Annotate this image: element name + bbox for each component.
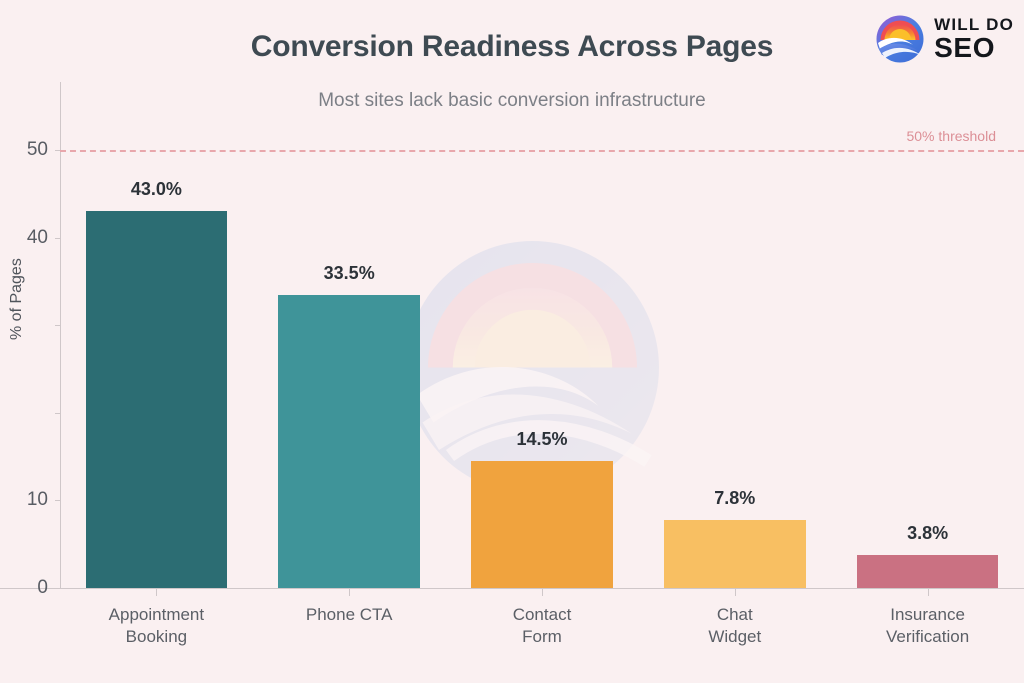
y-tick-mark	[55, 413, 61, 414]
threshold-line	[60, 150, 1024, 152]
bar[interactable]	[857, 555, 999, 588]
x-tick-mark	[928, 589, 929, 596]
chart-title: Conversion Readiness Across Pages	[0, 30, 1024, 64]
willdoseo-circle-logo-icon	[875, 14, 925, 64]
brand-logo-line2: SEO	[934, 34, 1014, 62]
chart-subtitle: Most sites lack basic conversion infrast…	[0, 90, 1024, 112]
chart-canvas: Conversion Readiness Across Pages Most s…	[0, 0, 1024, 683]
x-tick-label: InsuranceVerification	[833, 604, 1023, 648]
y-tick-mark	[55, 238, 61, 239]
bar-value-label: 33.5%	[269, 263, 429, 284]
brand-logo-text: WILL DO SEO	[934, 16, 1014, 62]
bar-value-label: 7.8%	[655, 488, 815, 509]
y-axis-title: % of Pages	[8, 258, 26, 340]
x-tick-label: ContactForm	[447, 604, 637, 648]
threshold-label: 50% threshold	[906, 128, 996, 144]
bar-value-label: 43.0%	[76, 179, 236, 200]
y-axis-spine	[60, 82, 61, 589]
y-tick-mark	[55, 588, 61, 589]
bar[interactable]	[664, 520, 806, 588]
y-tick-label: 0	[8, 577, 48, 599]
x-tick-label: Phone CTA	[254, 604, 444, 626]
brand-logo: WILL DO SEO	[875, 14, 1014, 64]
bar[interactable]	[471, 461, 613, 588]
y-tick-mark	[55, 500, 61, 501]
x-tick-mark	[156, 589, 157, 596]
bar[interactable]	[86, 211, 228, 588]
brand-logo-line1: WILL DO	[934, 16, 1014, 33]
y-tick-mark	[55, 325, 61, 326]
x-axis-spine	[0, 588, 1024, 589]
x-tick-mark	[735, 589, 736, 596]
x-tick-mark	[542, 589, 543, 596]
y-tick-label: 40	[8, 227, 48, 249]
bar[interactable]	[278, 295, 420, 588]
bar-value-label: 14.5%	[462, 429, 622, 450]
x-tick-label: ChatWidget	[640, 604, 830, 648]
x-tick-mark	[349, 589, 350, 596]
x-tick-label: AppointmentBooking	[61, 604, 251, 648]
y-tick-label: 10	[8, 489, 48, 511]
bar-value-label: 3.8%	[848, 523, 1008, 544]
y-tick-label: 50	[8, 139, 48, 161]
